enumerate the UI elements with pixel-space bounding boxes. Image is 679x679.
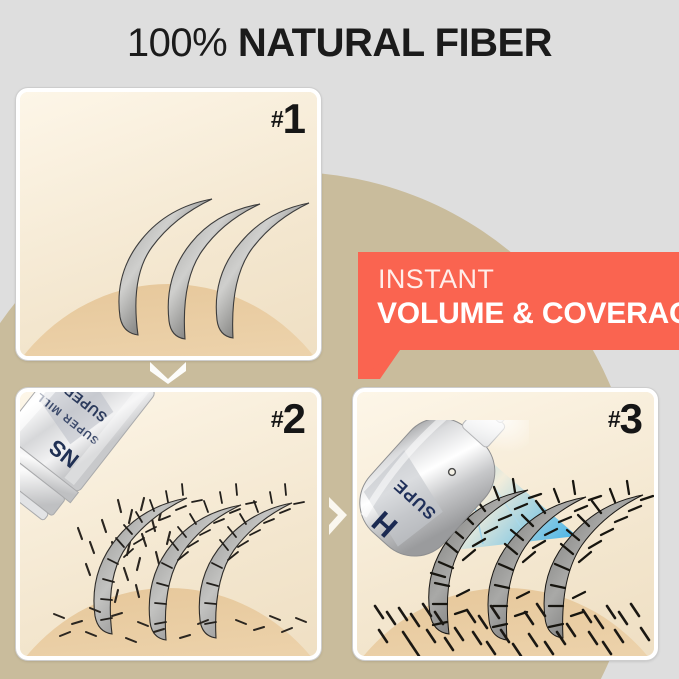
step-panel-2: SUPER MIL SUPER MILL NS [16, 388, 321, 660]
title-main: NATURAL FIBER [238, 21, 552, 65]
chevron-right-icon [324, 494, 350, 538]
step-number-2: #2 [271, 398, 305, 440]
infographic-canvas: 100% NATURAL FIBER [0, 0, 679, 679]
hash-symbol: # [608, 406, 620, 432]
step-panel-1: #1 [16, 88, 321, 360]
title-percent: 100% [127, 21, 227, 65]
shaker-bottle: SUPER MIL SUPER MILL NS [16, 388, 158, 570]
callout-tail [358, 350, 400, 379]
step-panel-3: SUPE H [353, 388, 658, 660]
hash-symbol: # [271, 406, 283, 432]
chevron-down-icon [147, 358, 189, 384]
promo-callout-banner: INSTANT VOLUME & COVERAGE [358, 252, 679, 350]
callout-line-2: VOLUME & COVERAGE [377, 299, 679, 329]
callout-coverage: COVERAGE [542, 297, 679, 330]
step-number-3: #3 [608, 398, 642, 440]
step-digit: 2 [283, 395, 305, 442]
callout-ampersand: & [512, 297, 533, 330]
callout-volume: VOLUME [377, 297, 504, 330]
hash-symbol: # [271, 106, 283, 132]
step-number-1: #1 [271, 98, 305, 140]
spray-bottle: SUPE H [353, 420, 529, 620]
page-title: 100% NATURAL FIBER [0, 20, 679, 66]
step-digit: 1 [283, 95, 305, 142]
callout-line-1: INSTANT [378, 266, 494, 293]
step-digit: 3 [620, 395, 642, 442]
